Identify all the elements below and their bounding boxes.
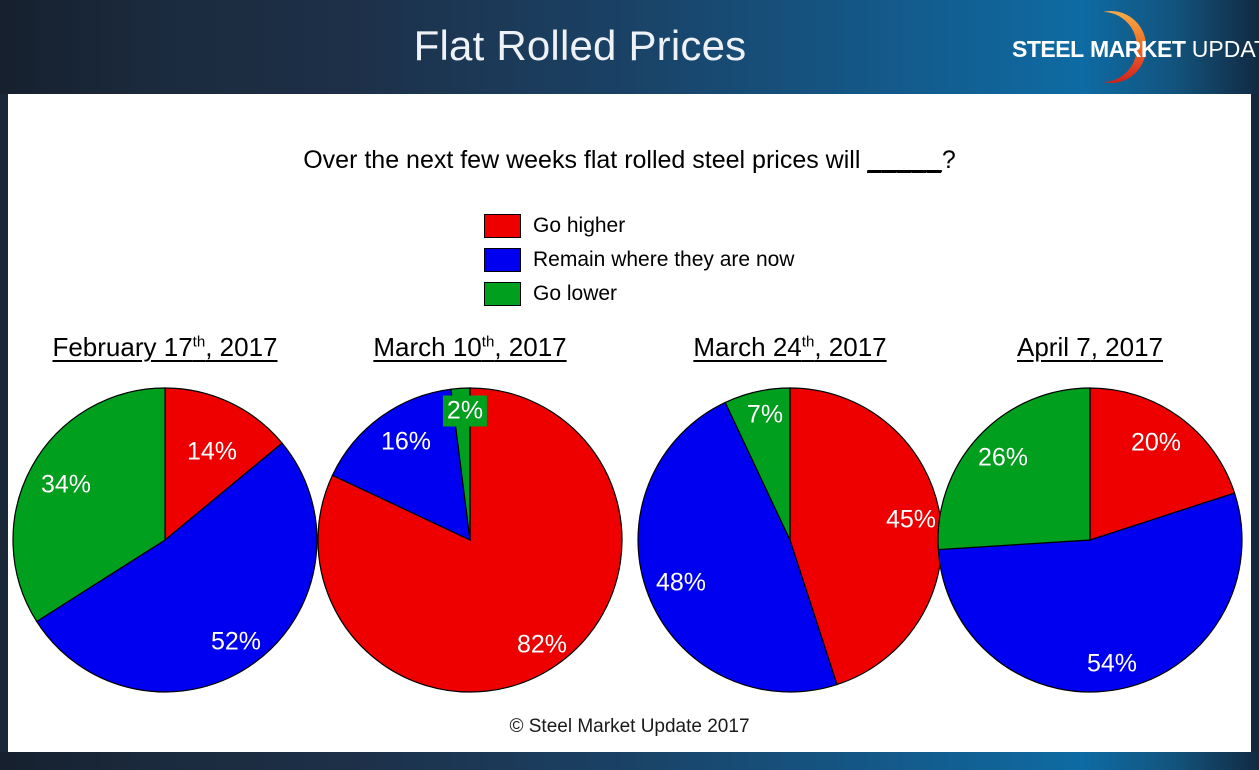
pie-slices bbox=[630, 380, 950, 700]
copyright-footer: © Steel Market Update 2017 bbox=[0, 716, 1259, 738]
pie-chart-group-3: March 24th, 201745%48%7% bbox=[630, 330, 950, 700]
legend-swatch-remain-same bbox=[484, 248, 521, 272]
question-prefix: Over the next few weeks flat rolled stee… bbox=[303, 146, 867, 174]
frame-edge-bottom bbox=[0, 752, 1259, 770]
pie-chart-group-4: April 7, 201720%54%26% bbox=[930, 330, 1250, 700]
pie-slice-label: 7% bbox=[747, 401, 783, 430]
pie-chart-title: March 24th, 2017 bbox=[630, 330, 950, 368]
pie-slice-label: 54% bbox=[1087, 650, 1137, 679]
pie-chart-group-2: March 10th, 201782%16%2% bbox=[310, 330, 630, 700]
legend-swatch-go-higher bbox=[484, 214, 521, 238]
pie-slice-label: 16% bbox=[381, 428, 431, 457]
pie-slice-label: 20% bbox=[1131, 429, 1181, 458]
legend-label-go-higher: Go higher bbox=[533, 214, 625, 238]
pie-chart: 82%16%2% bbox=[310, 380, 630, 700]
pie-slice-label: 45% bbox=[886, 506, 936, 535]
logo-word-steel: STEEL bbox=[1012, 36, 1084, 62]
slide-canvas: Flat Rolled Prices STEEL MARKET UPDATE bbox=[0, 0, 1259, 770]
pie-chart: 14%52%34% bbox=[5, 380, 325, 700]
pie-slices bbox=[5, 380, 325, 700]
pie-chart-title: February 17th, 2017 bbox=[5, 330, 325, 368]
chart-legend: Go higher Remain where they are now Go l… bbox=[484, 209, 904, 311]
legend-item-remain-same: Remain where they are now bbox=[484, 243, 904, 277]
logo-word-market: MARKET bbox=[1090, 36, 1185, 62]
page-title: Flat Rolled Prices bbox=[0, 18, 1160, 74]
pie-slice-label: 82% bbox=[517, 631, 567, 660]
logo-wordmark: STEEL MARKET UPDATE bbox=[1012, 36, 1256, 62]
pie-chart-title: March 10th, 2017 bbox=[310, 330, 630, 368]
legend-item-go-lower: Go lower bbox=[484, 277, 904, 311]
question-blank: _____ bbox=[867, 146, 942, 174]
survey-question: Over the next few weeks flat rolled stee… bbox=[0, 146, 1259, 175]
slide-header: Flat Rolled Prices STEEL MARKET UPDATE bbox=[0, 0, 1259, 94]
question-suffix: ? bbox=[942, 146, 956, 174]
pie-slice-label: 48% bbox=[656, 569, 706, 598]
pie-chart: 45%48%7% bbox=[630, 380, 950, 700]
frame-edge-right bbox=[1251, 94, 1259, 752]
logo-word-update: UPDATE bbox=[1192, 36, 1259, 62]
pie-slice-label: 14% bbox=[187, 438, 237, 467]
legend-label-go-lower: Go lower bbox=[533, 282, 617, 306]
pie-chart-group-1: February 17th, 201714%52%34% bbox=[5, 330, 325, 700]
pie-slice-label: 52% bbox=[211, 628, 261, 657]
legend-swatch-go-lower bbox=[484, 282, 521, 306]
pie-chart-title: April 7, 2017 bbox=[930, 330, 1250, 368]
steel-market-update-logo: STEEL MARKET UPDATE bbox=[1008, 8, 1256, 86]
legend-item-go-higher: Go higher bbox=[484, 209, 904, 243]
pie-chart: 20%54%26% bbox=[930, 380, 1250, 700]
pie-slice-label: 2% bbox=[443, 396, 487, 427]
pie-slice-label: 34% bbox=[41, 471, 91, 500]
pie-slice-label: 26% bbox=[978, 444, 1028, 473]
legend-label-remain-same: Remain where they are now bbox=[533, 248, 794, 272]
pie-slices bbox=[310, 380, 630, 700]
